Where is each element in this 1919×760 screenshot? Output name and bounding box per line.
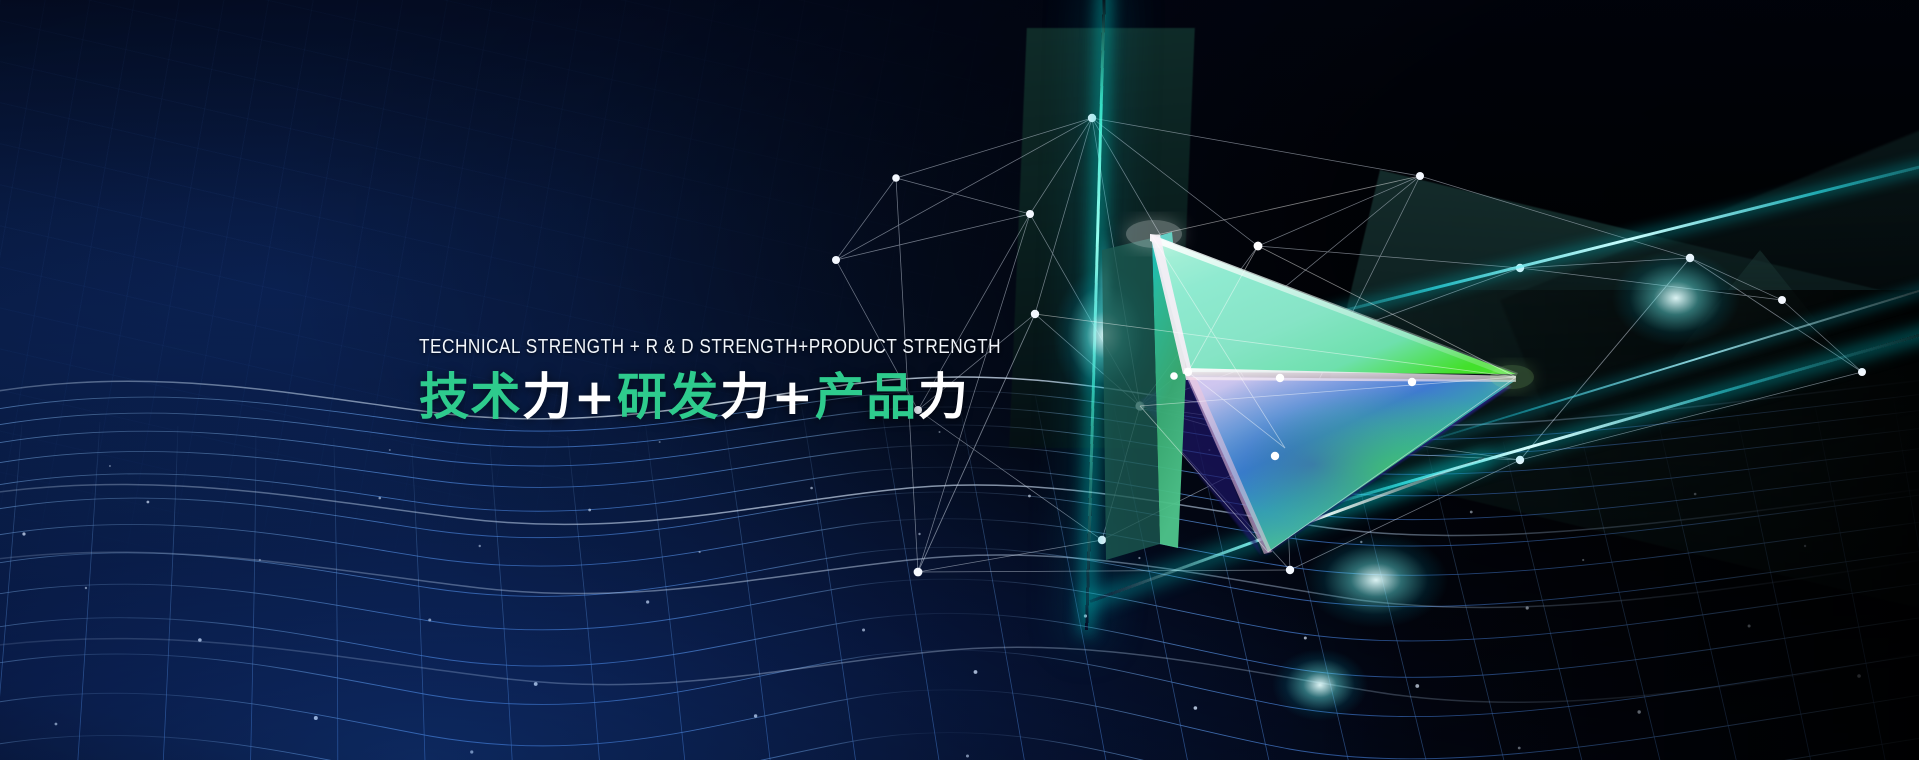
eyebrow-text: TECHNICAL STRENGTH + R & D STRENGTH+PROD…	[419, 337, 940, 358]
headline-seg-7: 力	[918, 368, 970, 426]
headline-seg-2: +	[574, 368, 617, 426]
headline-seg-6: 产品	[815, 368, 918, 426]
headline-block: TECHNICAL STRENGTH + R & D STRENGTH+PROD…	[419, 337, 1039, 424]
headline-seg-1: 力	[522, 368, 574, 426]
hero-banner: TECHNICAL STRENGTH + R & D STRENGTH+PROD…	[0, 0, 1919, 760]
headline-seg-4: 力	[720, 368, 772, 426]
headline-seg-5: +	[771, 368, 814, 426]
headline-seg-0: 技术	[419, 368, 522, 426]
page-title: 技术力+研发力+产品力	[419, 371, 1039, 424]
headline-seg-3: 研发	[617, 368, 720, 426]
